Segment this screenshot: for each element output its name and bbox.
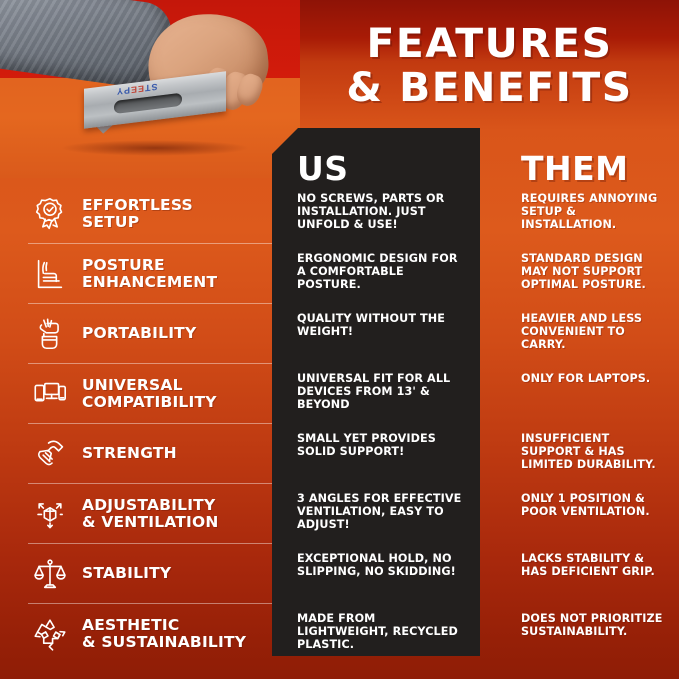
feature-row-aesthetic-sustainability: AESTHETIC & SUSTAINABILITY — [28, 604, 273, 664]
feature-label: PORTABILITY — [82, 325, 196, 342]
brand-logo-text: ST — [144, 82, 158, 94]
us-points-list: NO SCREWS, PARTS OR INSTALLATION. JUST U… — [297, 192, 469, 672]
feature-row-universal-compatibility: UNIVERSAL COMPATIBILITY — [28, 364, 273, 424]
feature-label-line1: STRENGTH — [82, 444, 177, 462]
stand-handle-slot — [114, 93, 182, 114]
us-point: MADE FROM LIGHTWEIGHT, RECYCLED PLASTIC. — [297, 612, 469, 651]
balance-scale-icon — [30, 554, 70, 594]
feature-label: ADJUSTABILITY & VENTILATION — [82, 497, 219, 531]
us-point: UNIVERSAL FIT FOR ALL DEVICES FROM 13' &… — [297, 372, 469, 411]
feature-label: UNIVERSAL COMPATIBILITY — [82, 377, 217, 411]
feature-row-adjustability-ventilation: ADJUSTABILITY & VENTILATION — [28, 484, 273, 544]
them-point: REQUIRES ANNOYING SETUP & INSTALLATION. — [521, 192, 671, 231]
ergonomic-chair-icon — [30, 254, 70, 294]
feature-row-effortless-setup: EFFORTLESS SETUP — [28, 184, 273, 244]
them-point: INSUFFICIENT SUPPORT & HAS LIMITED DURAB… — [521, 432, 671, 471]
feature-label-line1: ADJUSTABILITY — [82, 496, 215, 514]
us-point: QUALITY WITHOUT THE WEIGHT! — [297, 312, 469, 338]
them-point: LACKS STABILITY & HAS DEFICIENT GRIP. — [521, 552, 671, 578]
feature-label-line2: SETUP — [82, 213, 139, 231]
brand-logo-accent: EE — [130, 83, 144, 95]
feature-label-line1: PORTABILITY — [82, 324, 196, 342]
feature-label: AESTHETIC & SUSTAINABILITY — [82, 617, 246, 651]
them-point: ONLY 1 POSITION & POOR VENTILATION. — [521, 492, 671, 518]
feature-label-line1: AESTHETIC — [82, 616, 179, 634]
feature-row-strength: STRENGTH — [28, 424, 273, 484]
us-point: SMALL YET PROVIDES SOLID SUPPORT! — [297, 432, 469, 458]
product-shadow — [60, 140, 250, 156]
us-column-heading: US — [297, 152, 349, 186]
cube-arrows-icon — [30, 494, 70, 534]
feature-label-line2: & SUSTAINABILITY — [82, 633, 246, 651]
us-point: EXCEPTIONAL HOLD, NO SLIPPING, NO SKIDDI… — [297, 552, 469, 578]
feature-label: STABILITY — [82, 565, 171, 582]
feature-label-line1: STABILITY — [82, 564, 171, 582]
page-title: FEATURES & BENEFITS — [296, 22, 679, 110]
feature-label: POSTURE ENHANCEMENT — [82, 257, 217, 291]
hammer-icon — [30, 434, 70, 474]
title-line-2: & BENEFITS — [296, 66, 679, 110]
us-point: NO SCREWS, PARTS OR INSTALLATION. JUST U… — [297, 192, 469, 231]
recycle-icon — [30, 614, 70, 654]
them-points-list: REQUIRES ANNOYING SETUP & INSTALLATION. … — [521, 192, 671, 672]
feature-list: EFFORTLESS SETUP POSTURE ENHANCEMENT — [28, 184, 273, 664]
them-point: STANDARD DESIGN MAY NOT SUPPORT OPTIMAL … — [521, 252, 671, 291]
feature-label-line2: & VENTILATION — [82, 513, 219, 531]
feature-label-line2: ENHANCEMENT — [82, 273, 217, 291]
feature-label-line1: POSTURE — [82, 256, 165, 274]
them-point: ONLY FOR LAPTOPS. — [521, 372, 671, 385]
feature-label: STRENGTH — [82, 445, 177, 462]
award-badge-icon — [30, 194, 70, 234]
hand-in-pocket-icon — [30, 314, 70, 354]
us-point: ERGONOMIC DESIGN FOR A COMFORTABLE POSTU… — [297, 252, 469, 291]
feature-row-stability: STABILITY — [28, 544, 273, 604]
title-line-1: FEATURES — [296, 22, 679, 66]
feature-label-line2: COMPATIBILITY — [82, 393, 217, 411]
brand-logo: STEEPY — [116, 82, 158, 97]
feature-row-portability: PORTABILITY — [28, 304, 273, 364]
feature-label-line1: UNIVERSAL — [82, 376, 183, 394]
them-column-heading: THEM — [521, 152, 629, 186]
infographic-root: STEEPY FEATURES & BENEFITS EFFORTLESS SE… — [0, 0, 679, 679]
them-point: HEAVIER AND LESS CONVENIENT TO CARRY. — [521, 312, 671, 351]
them-point: DOES NOT PRIORITIZE SUSTAINABILITY. — [521, 612, 671, 638]
multi-devices-icon — [30, 374, 70, 414]
feature-label-line1: EFFORTLESS — [82, 196, 193, 214]
feature-label: EFFORTLESS SETUP — [82, 197, 193, 231]
us-point: 3 ANGLES FOR EFFECTIVE VENTILATION, EASY… — [297, 492, 469, 531]
feature-row-posture-enhancement: POSTURE ENHANCEMENT — [28, 244, 273, 304]
brand-logo-text-end: PY — [116, 85, 130, 97]
product-photo: STEEPY — [0, 0, 300, 178]
